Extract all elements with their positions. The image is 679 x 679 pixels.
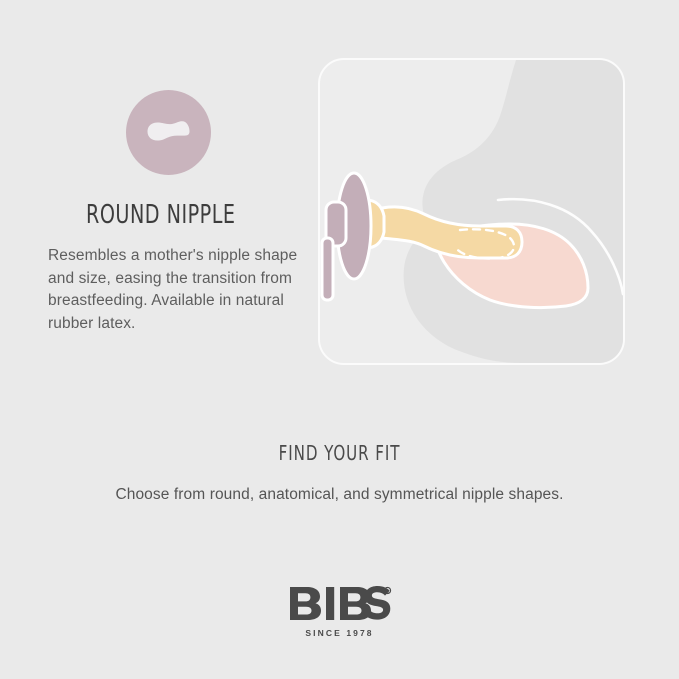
feature-description: Resembles a mother's nipple shape and si… xyxy=(48,245,298,335)
brand-tagline: SINCE 1978 xyxy=(0,628,679,638)
bibs-wordmark: R xyxy=(288,586,392,620)
brand-logo: R SINCE 1978 xyxy=(0,586,679,638)
product-feature-page: ROUND NIPPLE Resembles a mother's nipple… xyxy=(0,0,679,679)
round-nipple-icon xyxy=(126,90,211,175)
find-your-fit-section: FIND YOUR FIT Choose from round, anatomi… xyxy=(0,440,679,506)
find-your-fit-subtitle: Choose from round, anatomical, and symme… xyxy=(0,484,679,506)
illustration-panel xyxy=(318,58,625,365)
feature-text-column: ROUND NIPPLE Resembles a mother's nipple… xyxy=(0,0,300,400)
feature-row: ROUND NIPPLE Resembles a mother's nipple… xyxy=(0,0,679,400)
find-your-fit-title: FIND YOUR FIT xyxy=(279,440,401,466)
feature-title: ROUND NIPPLE xyxy=(86,200,266,230)
svg-text:R: R xyxy=(385,589,388,594)
